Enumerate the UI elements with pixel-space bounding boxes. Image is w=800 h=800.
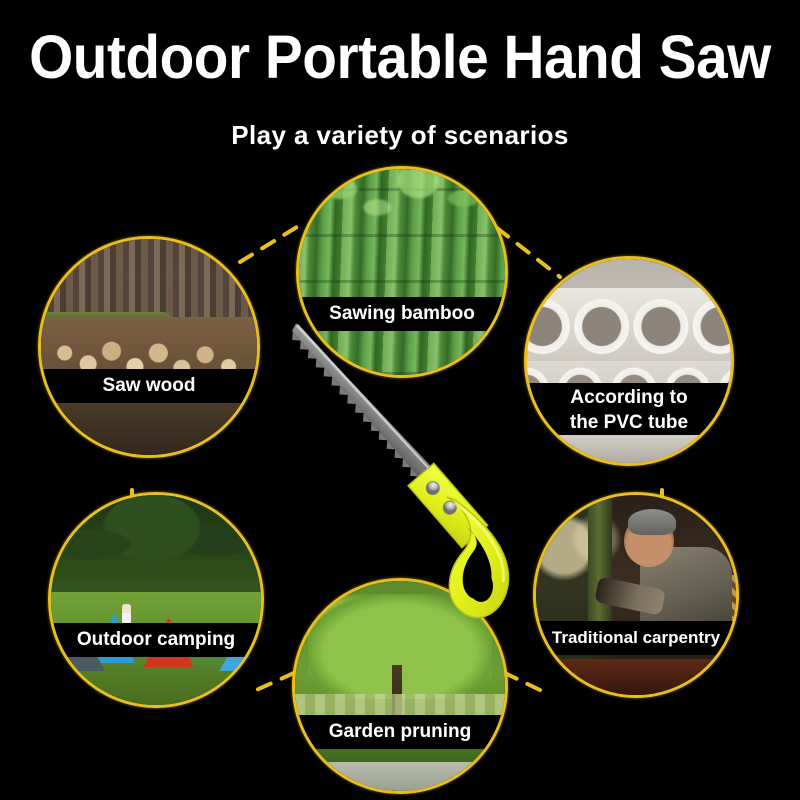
hand-saw-illustration	[0, 0, 800, 800]
saw-teeth	[288, 332, 418, 481]
saw-blade-group	[286, 318, 433, 482]
infographic-page: Outdoor Portable Hand Saw Play a variety…	[0, 0, 800, 800]
saw-handle-loop-lower-hole	[469, 570, 493, 602]
